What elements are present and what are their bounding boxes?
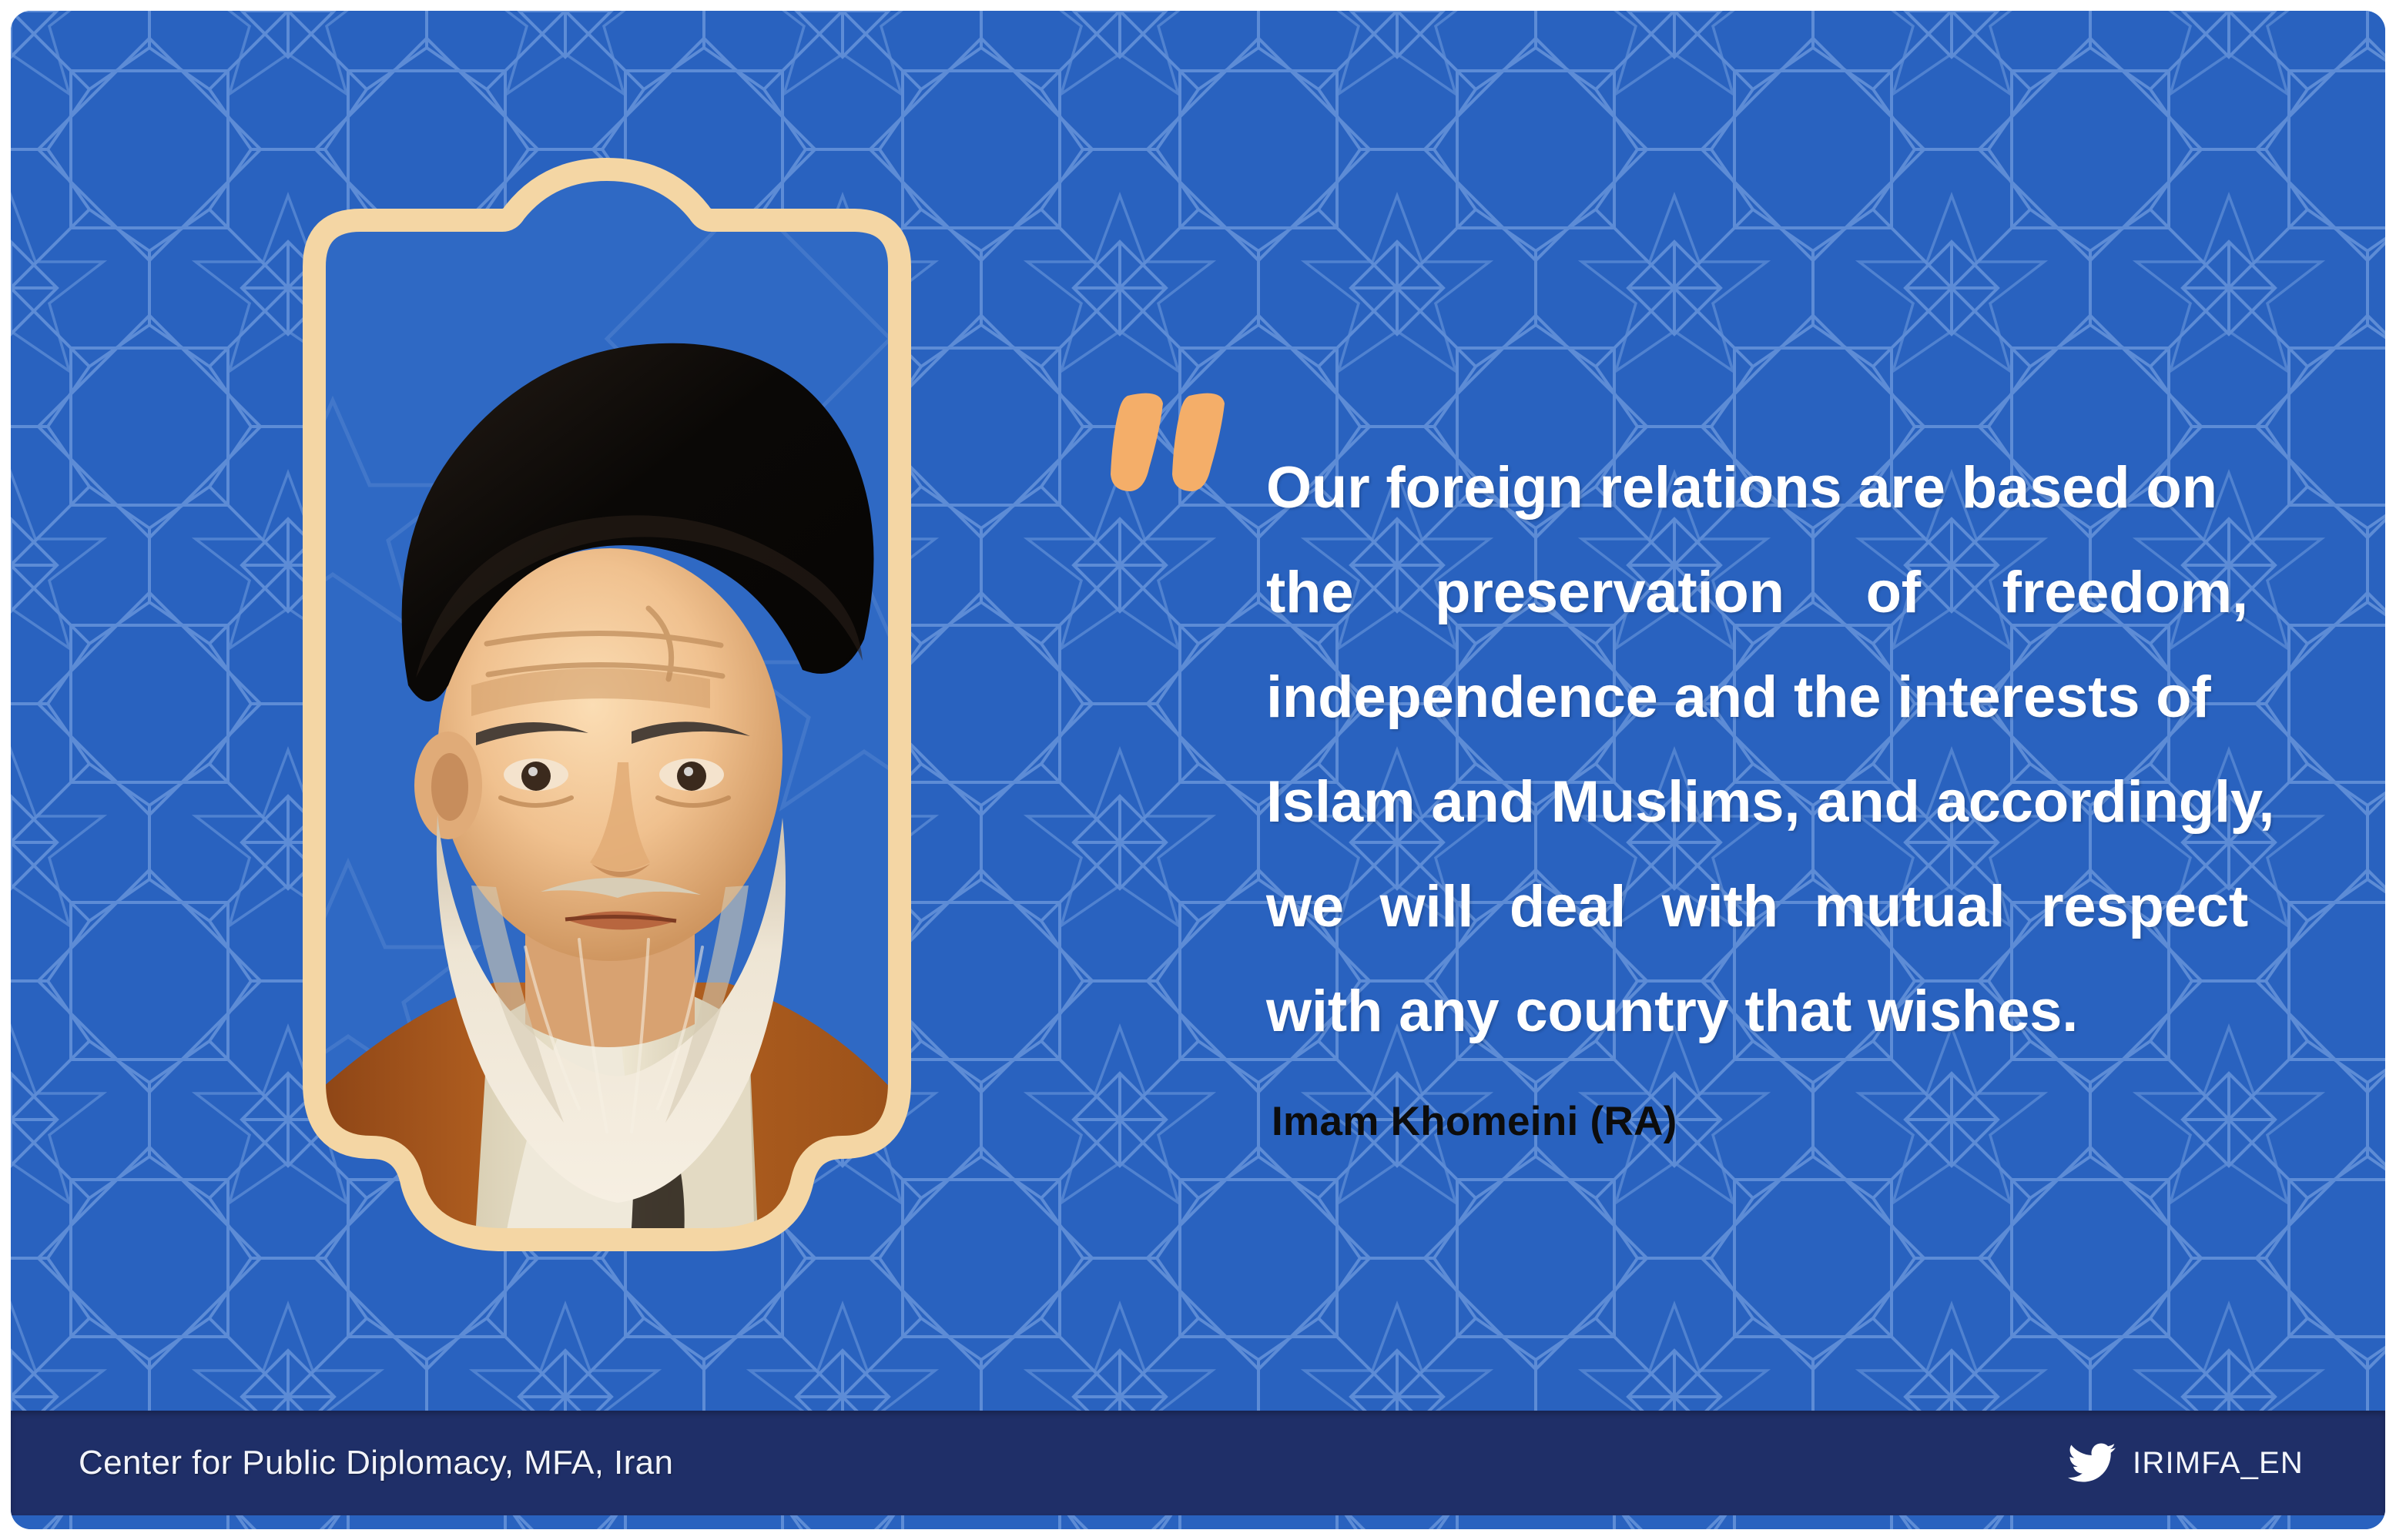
quote-word: with <box>1662 855 1778 959</box>
open-quote-icon <box>1095 377 1249 516</box>
twitter-handle-label[interactable]: IRIMFA_EN <box>2133 1446 2304 1481</box>
quote-line-1: Our foreign relations are based on <box>1266 436 2248 541</box>
quote-attribution: Imam Khomeini (RA) <box>1272 1098 1677 1145</box>
quote-word: preservation <box>1435 541 1784 645</box>
footer-bar: Center for Public Diplomacy, MFA, Iran I… <box>11 1411 2385 1515</box>
quote-word: will <box>1380 855 1474 959</box>
poster-root: Our foreign relations are based on the p… <box>0 0 2396 1540</box>
quote-word: mutual <box>1814 855 2005 959</box>
quote-word: of <box>1866 541 1921 645</box>
quote-line-2: the preservation of freedom, <box>1266 541 2248 645</box>
quote-block: Our foreign relations are based on the p… <box>1266 436 2248 1064</box>
portrait-frame-svg <box>217 146 997 1301</box>
social-handle-group[interactable]: IRIMFA_EN <box>2068 1443 2304 1483</box>
quote-line-5: we will deal with mutual respect <box>1266 855 2248 959</box>
quote-line-6: with any country that wishes. <box>1266 959 2248 1064</box>
twitter-bird-icon[interactable] <box>2068 1443 2116 1483</box>
quote-line-4: Islam and Muslims, and accordingly, <box>1266 750 2248 855</box>
quote-line-1-text: Our foreign relations are based on <box>1266 436 2217 541</box>
quote-word: deal <box>1510 855 1626 959</box>
portrait-frame <box>217 146 997 1301</box>
quote-word: freedom, <box>2002 541 2248 645</box>
organization-label: Center for Public Diplomacy, MFA, Iran <box>79 1444 673 1482</box>
quote-word: the <box>1266 541 1353 645</box>
quote-line-3: independence and the interests of <box>1266 645 2248 750</box>
poster-canvas: Our foreign relations are based on the p… <box>11 11 2385 1529</box>
quote-word: respect <box>2041 855 2248 959</box>
quote-word: we <box>1266 855 1344 959</box>
